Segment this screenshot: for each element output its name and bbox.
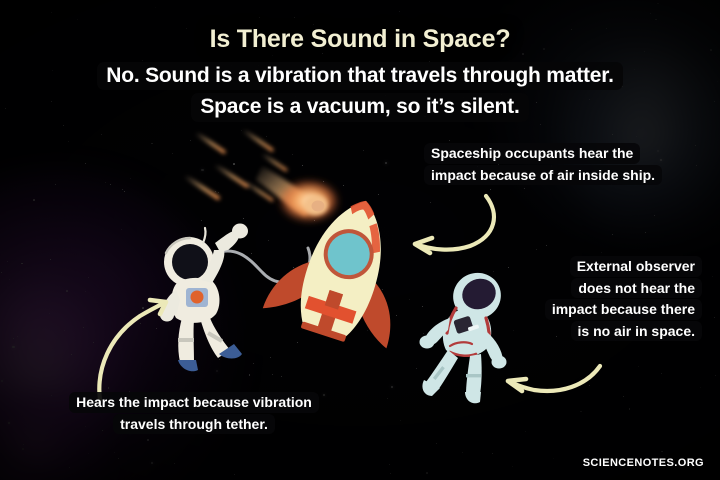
callout-spaceship-line-2: impact because of air inside ship. bbox=[424, 165, 662, 186]
astronaut-left-visor bbox=[172, 244, 208, 280]
callout-spaceship: Spaceship occupants hear the impact beca… bbox=[424, 143, 704, 186]
subtitle-line-2: Space is a vacuum, so it’s silent. bbox=[191, 93, 528, 121]
subtitle-line-1: No. Sound is a vibration that travels th… bbox=[97, 62, 622, 90]
callout-external-observer: External observer does not hear the impa… bbox=[462, 256, 702, 342]
callout-external-line-3: impact because there bbox=[545, 299, 702, 320]
subtitle-block: No. Sound is a vibration that travels th… bbox=[0, 62, 720, 125]
callout-spaceship-line-1: Spaceship occupants hear the bbox=[424, 143, 640, 164]
callout-external-line-4: is no air in space. bbox=[571, 321, 703, 342]
arrow-to-tether-shaft bbox=[99, 302, 166, 400]
page-title: Is There Sound in Space? bbox=[0, 25, 720, 54]
callout-external-line-1: External observer bbox=[570, 256, 702, 277]
astronaut-left-badge bbox=[191, 291, 204, 304]
callout-tether-line-2: travels through tether. bbox=[113, 414, 275, 435]
impact-meteor bbox=[256, 166, 339, 222]
callout-external-line-2: does not hear the bbox=[571, 278, 702, 299]
callout-tether-line-1: Hears the impact because vibration bbox=[69, 392, 319, 413]
site-watermark: SCIENCENOTES.ORG bbox=[583, 457, 704, 469]
infographic-canvas: Is There Sound in Space? No. Sound is a … bbox=[0, 0, 720, 480]
astronaut-left-boot-1 bbox=[178, 360, 198, 371]
astronaut-left-tethered bbox=[160, 224, 248, 372]
callout-tether: Hears the impact because vibration trave… bbox=[34, 392, 354, 435]
